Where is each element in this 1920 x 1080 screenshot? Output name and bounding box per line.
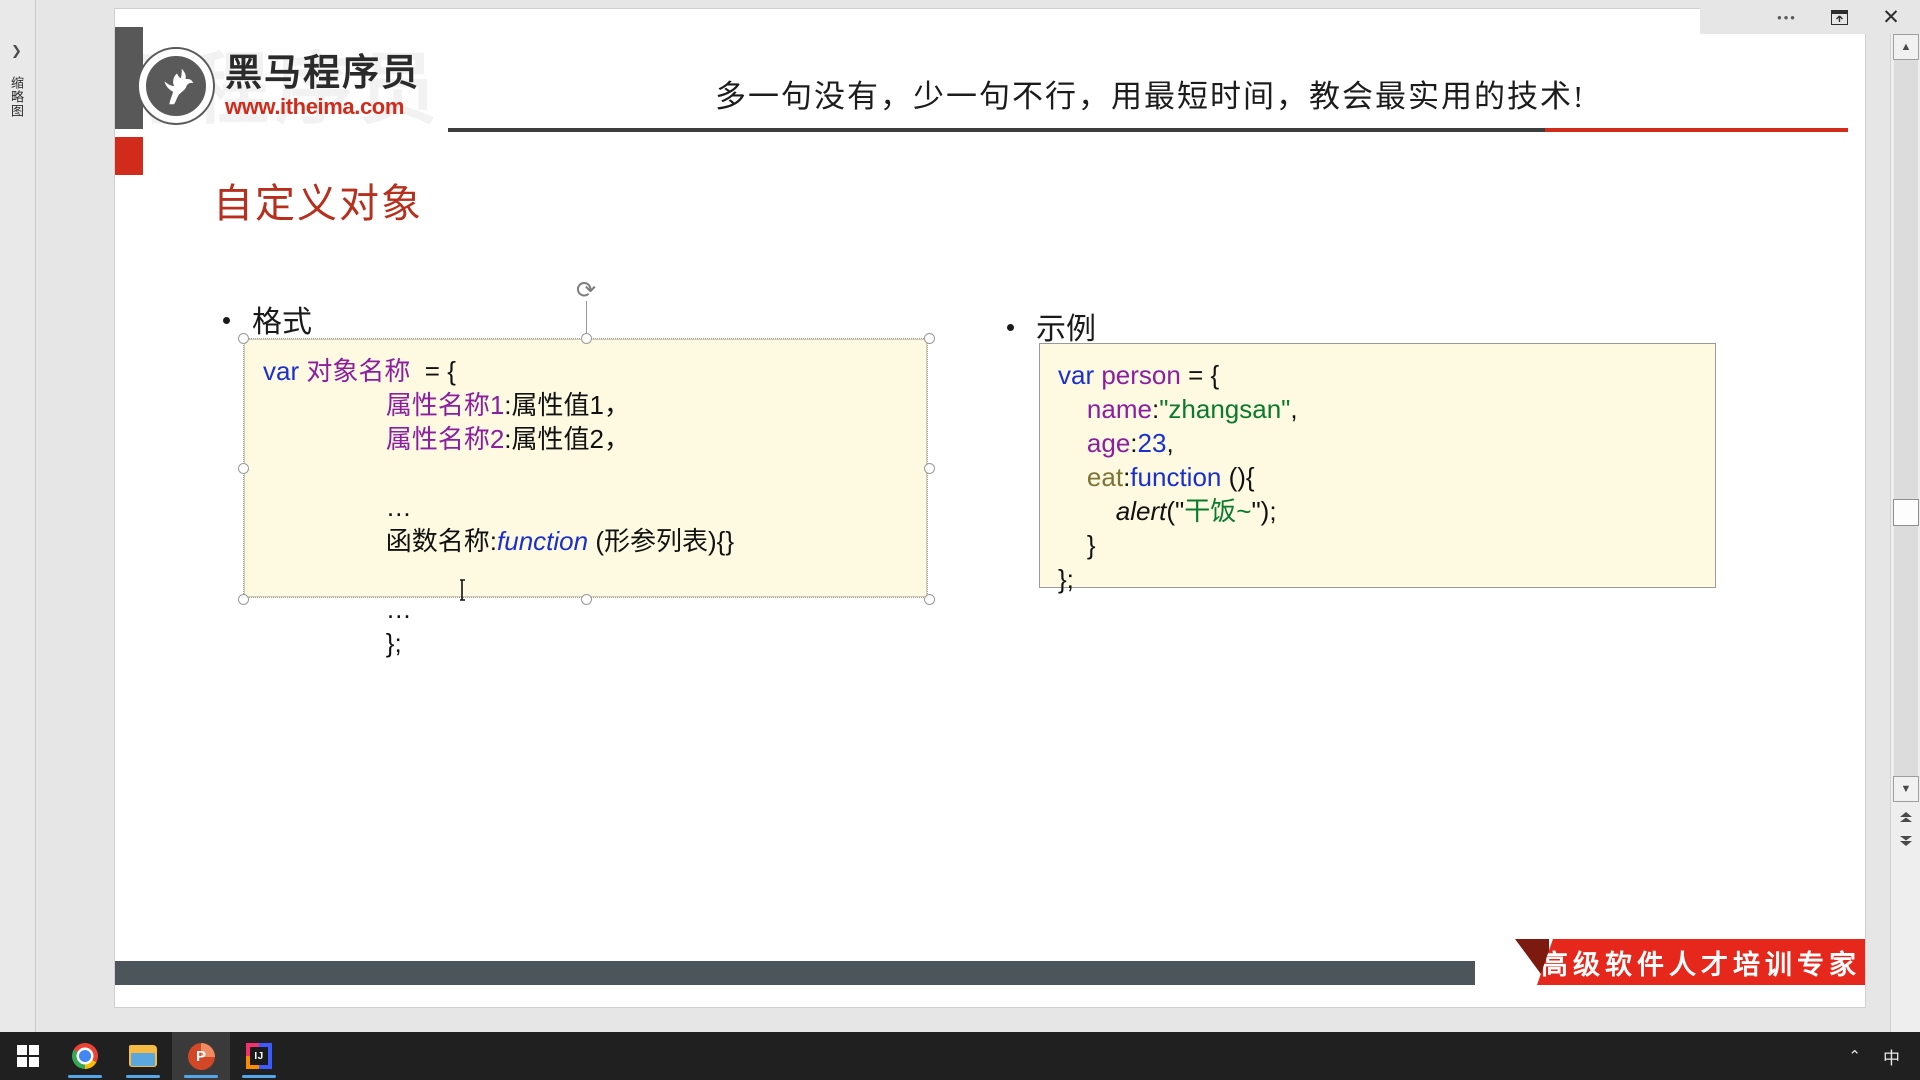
code-line: };: [1058, 562, 1697, 596]
double-chevron-down-icon: [1898, 835, 1914, 847]
code-token: };: [263, 628, 402, 658]
resize-handle-middle-left[interactable]: [238, 463, 249, 474]
code-token: (形参列表){}: [588, 526, 734, 556]
double-chevron-up-icon: [1898, 811, 1914, 823]
code-line: var person = {: [1058, 358, 1697, 392]
more-options-icon[interactable]: •••: [1774, 4, 1800, 30]
format-code-textbox[interactable]: var 对象名称 = { 属性名称1:属性值1， 属性名称2:属性值2， … 函…: [244, 339, 927, 597]
code-token: name: [1087, 394, 1152, 424]
intellij-icon: IJ: [246, 1043, 272, 1069]
bullet-format: 格式: [223, 297, 312, 341]
code-token: var: [263, 356, 306, 386]
code-token: ");: [1251, 496, 1276, 526]
code-token: eat: [1087, 462, 1123, 492]
code-line: name:"zhangsan",: [1058, 392, 1697, 426]
rotate-handle-icon[interactable]: ⟳: [572, 277, 600, 305]
code-line: }: [1058, 528, 1697, 562]
code-token: 对象名称: [306, 356, 410, 386]
horse-logo-icon: [137, 47, 215, 125]
resize-handle-middle-right[interactable]: [924, 463, 935, 474]
thumbnail-rail[interactable]: ❯ 缩略图: [0, 0, 36, 1032]
taskbar-powerpoint[interactable]: P: [172, 1032, 230, 1080]
resize-handle-bottom-left[interactable]: [238, 594, 249, 605]
resize-handle-top-left[interactable]: [238, 333, 249, 344]
slogan-divider-accent: [1545, 128, 1848, 132]
code-token: function: [1130, 462, 1221, 492]
ribbon-text: 高级软件人才培训专家: [1541, 943, 1861, 982]
resize-handle-bottom-center[interactable]: [581, 594, 592, 605]
code-line: 函数名称:function (形参列表){}: [263, 524, 908, 558]
thumbnail-rail-label: 缩略图: [7, 76, 26, 118]
code-token: [1058, 394, 1087, 424]
expand-thumbnails-chevron-right-icon[interactable]: ❯: [11, 44, 22, 59]
itheima-logo: 黑马程序员 www.itheima.com: [137, 47, 420, 125]
code-token: = {: [410, 356, 456, 386]
code-line: [263, 456, 908, 490]
code-token: "zhangsan": [1159, 394, 1290, 424]
resize-handle-bottom-right[interactable]: [924, 594, 935, 605]
code-token: [263, 424, 386, 454]
bullet-dot-icon: [223, 317, 230, 324]
code-token: = {: [1181, 360, 1219, 390]
code-token: (){: [1221, 462, 1254, 492]
code-token: ,: [1166, 428, 1173, 458]
logo-text-block: 黑马程序员 www.itheima.com: [225, 54, 420, 118]
code-token: age: [1087, 428, 1130, 458]
code-token: [263, 390, 386, 420]
system-tray: ⌃ 中: [1848, 1044, 1920, 1069]
start-button[interactable]: [0, 1032, 56, 1080]
windows-logo-icon: [17, 1045, 39, 1067]
code-token: alert: [1116, 496, 1167, 526]
code-token: [1058, 462, 1087, 492]
logo-url: www.itheima.com: [225, 96, 420, 118]
code-token: :属性值1，: [504, 390, 630, 420]
slide-canvas[interactable]: 黑马程序员 黑马程序员 www.itheima.com 多一句没有，少一句不行，…: [114, 8, 1866, 1008]
logo-name: 黑马程序员: [225, 54, 420, 91]
code-line: var 对象名称 = {: [263, 354, 908, 388]
code-token: …: [263, 594, 412, 624]
code-line: alert("干饭~");: [1058, 494, 1697, 528]
code-token: [1058, 428, 1087, 458]
close-icon[interactable]: ✕: [1878, 4, 1904, 30]
tray-ime-indicator[interactable]: 中: [1883, 1044, 1900, 1069]
code-line: [263, 558, 908, 592]
code-token: person: [1101, 360, 1181, 390]
restore-glyph: [1831, 10, 1848, 25]
code-token: [1058, 496, 1116, 526]
code-token: };: [1058, 564, 1074, 594]
restore-window-icon[interactable]: [1826, 4, 1852, 30]
scroll-down-button[interactable]: ▼: [1893, 776, 1919, 802]
code-token: ,: [1290, 394, 1297, 424]
code-token: …: [263, 492, 412, 522]
code-token: (": [1166, 496, 1184, 526]
code-token: var: [1058, 360, 1101, 390]
code-line: 属性名称2:属性值2，: [263, 422, 908, 456]
example-code-box[interactable]: var person = { name:"zhangsan", age:23, …: [1039, 343, 1716, 588]
taskbar-file-explorer[interactable]: [114, 1032, 172, 1080]
code-line: age:23,: [1058, 426, 1697, 460]
code-line: };: [263, 626, 908, 660]
powerpoint-letter: P: [188, 1043, 215, 1070]
code-token: 函数名称:: [263, 526, 497, 556]
taskbar-intellij-idea[interactable]: IJ: [230, 1032, 288, 1080]
slide-slogan: 多一句没有，少一句不行，用最短时间，教会最实用的技术!: [715, 71, 1845, 116]
next-slide-button[interactable]: [1896, 830, 1916, 852]
code-token: :: [1130, 428, 1137, 458]
page-title: 自定义对象: [213, 171, 423, 229]
resize-handle-top-right[interactable]: [924, 333, 935, 344]
code-token: 属性名称2: [386, 424, 504, 454]
intellij-letter: IJ: [250, 1047, 268, 1065]
scroll-up-button[interactable]: ▲: [1893, 34, 1919, 60]
horse-glyph: [153, 63, 199, 109]
code-token: 属性名称1: [386, 390, 504, 420]
resize-handle-top-center[interactable]: [581, 333, 592, 344]
bullet-dot-icon: [1007, 324, 1014, 331]
code-token: function: [497, 526, 588, 556]
code-line: …: [263, 490, 908, 524]
windows-taskbar: P IJ ⌃ 中: [0, 1032, 1920, 1080]
taskbar-chrome[interactable]: [56, 1032, 114, 1080]
slide-ribbon: 高级软件人才培训专家: [1515, 939, 1865, 985]
slide-footer-bar: [115, 961, 1475, 985]
ribbon-body: 高级软件人才培训专家: [1537, 939, 1865, 985]
code-line: eat:function (){: [1058, 460, 1697, 494]
scrollbar-thumb[interactable]: [1893, 499, 1919, 526]
bullet-format-label: 格式: [252, 297, 312, 341]
scrollbar-track[interactable]: [1894, 60, 1918, 776]
vertical-scrollbar[interactable]: ▲ ▼: [1890, 34, 1920, 1032]
code-token: }: [1058, 530, 1096, 560]
bullet-example: 示例: [1007, 304, 1096, 348]
text-ibeam-cursor-icon: [459, 579, 473, 601]
folder-icon: [129, 1045, 157, 1067]
code-line: 属性名称1:属性值1，: [263, 388, 908, 422]
previous-slide-button[interactable]: [1896, 806, 1916, 828]
powerpoint-icon: P: [188, 1043, 215, 1070]
chrome-icon: [72, 1043, 98, 1069]
window-controls: ••• ✕: [1700, 0, 1920, 34]
code-token: :属性值2，: [504, 424, 630, 454]
tray-overflow-chevron-up-icon[interactable]: ⌃: [1848, 1047, 1861, 1065]
code-token: 23: [1138, 428, 1167, 458]
bullet-example-label: 示例: [1036, 304, 1096, 348]
brand-bar-red: [115, 137, 143, 175]
code-token: 干饭~: [1184, 496, 1251, 526]
